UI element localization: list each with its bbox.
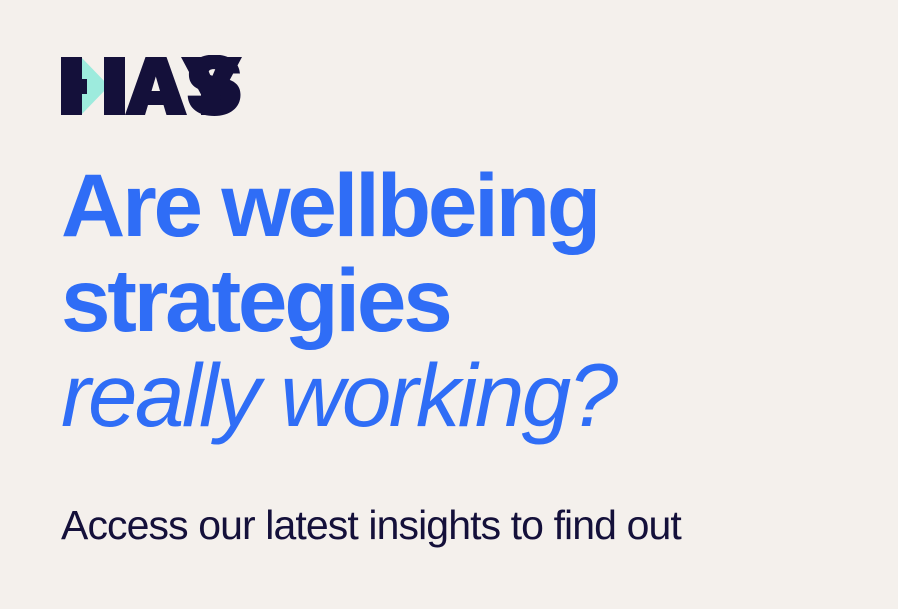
hays-logo-letter-h-crossbar — [61, 79, 87, 94]
promo-banner: Are wellbeing strategies really working?… — [0, 0, 898, 609]
headline-line-2: strategies — [61, 253, 841, 348]
headline-line-3: really working? — [61, 348, 841, 443]
hays-logo-letter-a — [125, 57, 187, 115]
headline-line-1: Are wellbeing — [61, 158, 841, 253]
headline: Are wellbeing strategies really working? — [61, 158, 841, 443]
hays-logo-letter-s — [188, 55, 241, 116]
hays-logo-letter-h-right-stem — [104, 57, 125, 115]
hays-logo[interactable] — [61, 55, 253, 117]
subtitle: Access our latest insights to find out — [61, 500, 681, 550]
